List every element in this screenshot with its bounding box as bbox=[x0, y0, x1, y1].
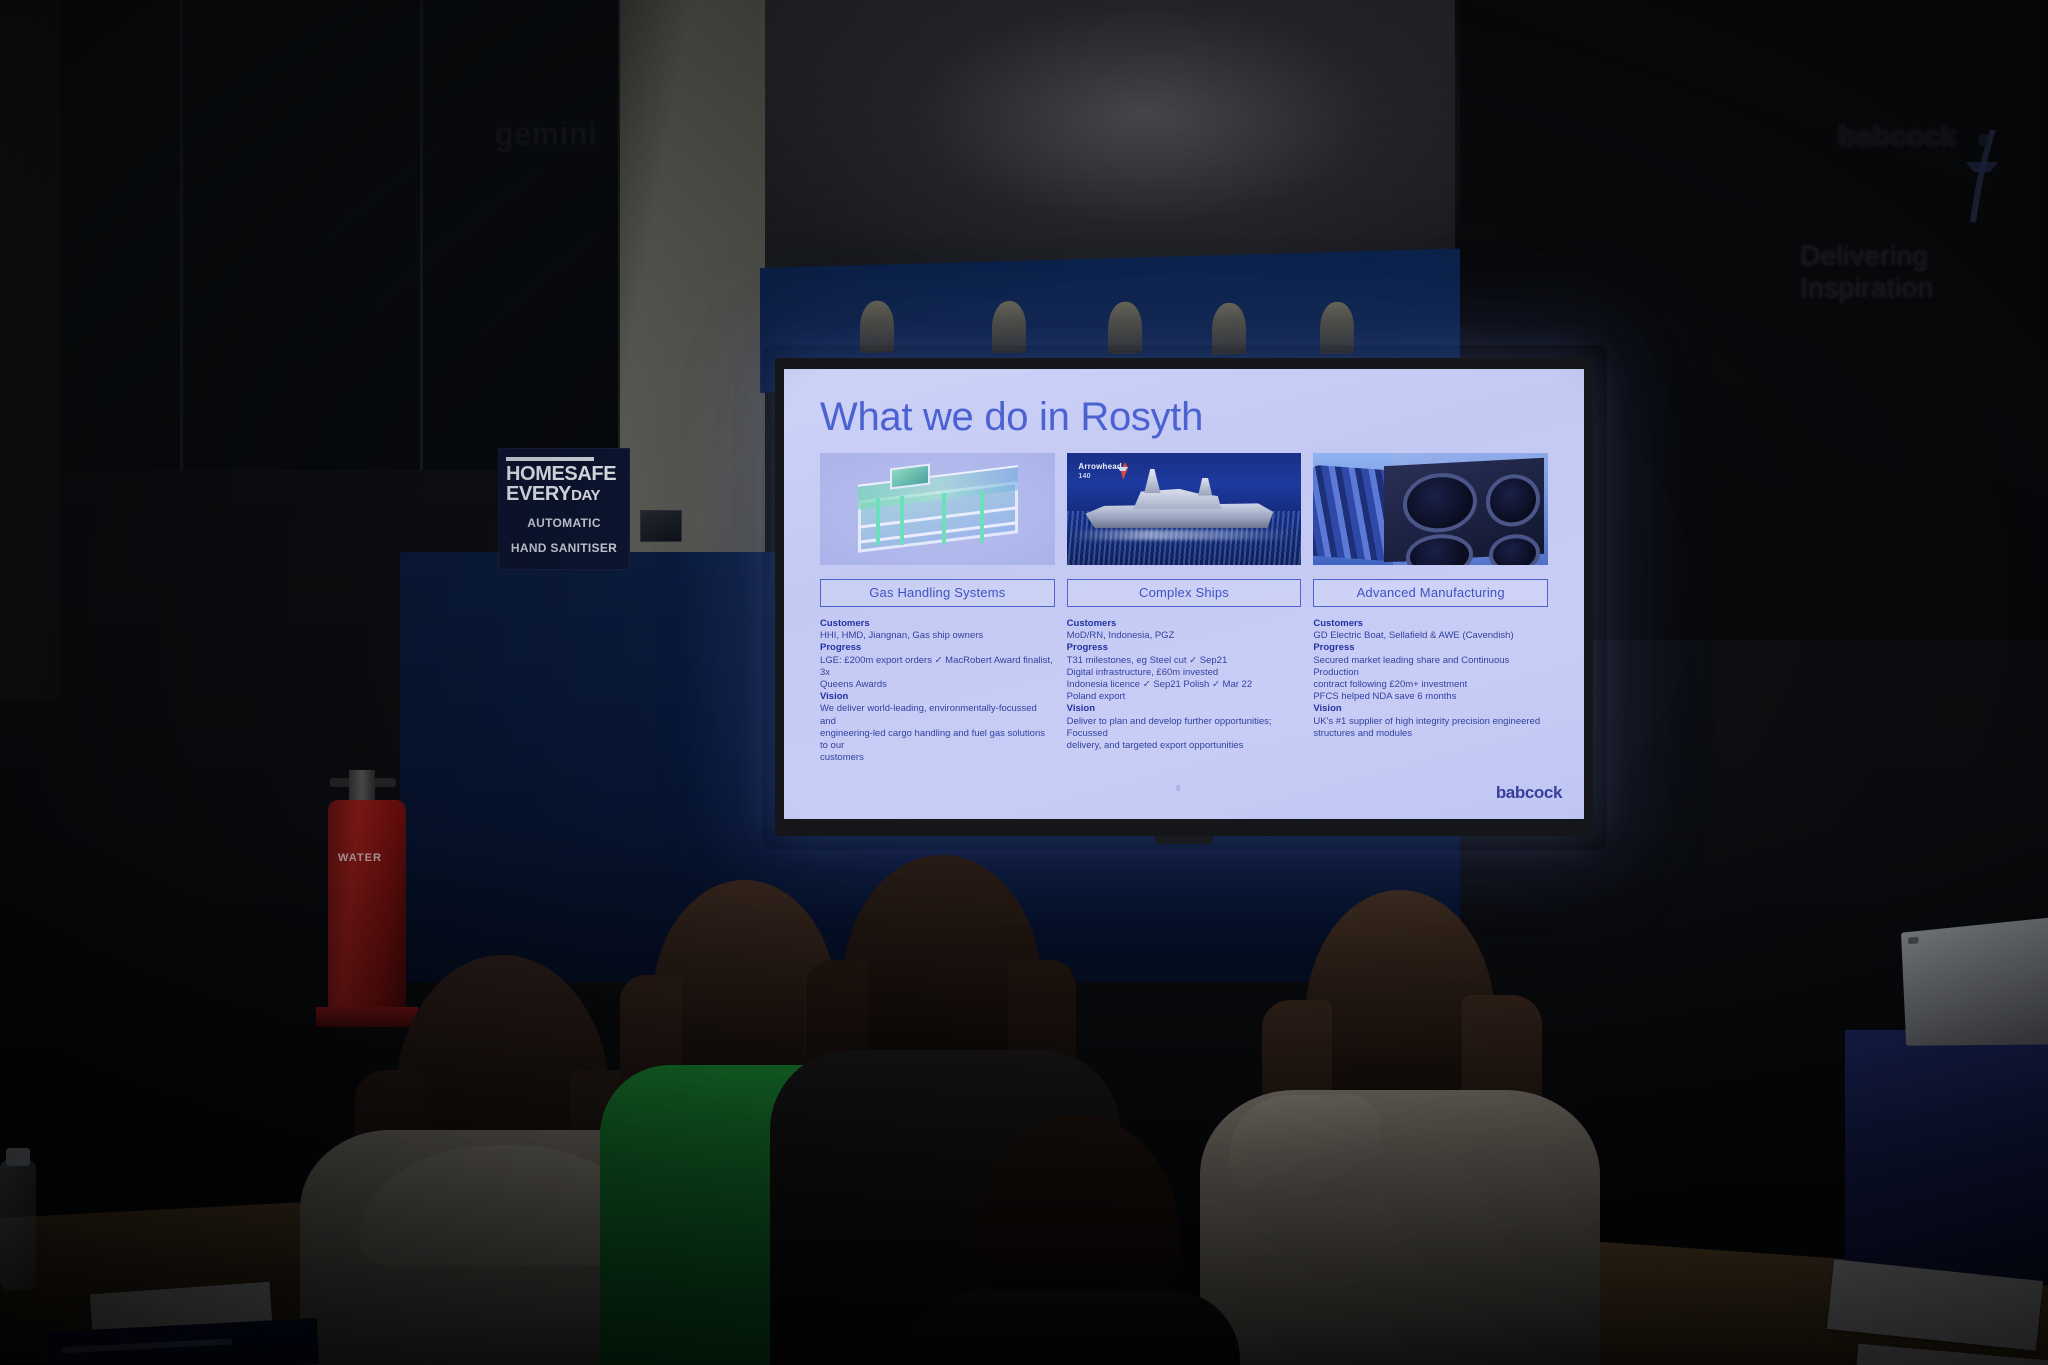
body-line: UK's #1 supplier of high integrity preci… bbox=[1313, 716, 1548, 728]
slide-babcock-logo: babcock bbox=[1496, 783, 1562, 803]
body-line: Queens Awards bbox=[820, 679, 1055, 691]
person-beige-coat-right bbox=[1200, 890, 1600, 1365]
body-line: Secured market leading share and Continu… bbox=[1313, 655, 1548, 679]
caption-complex-ships: Complex Ships bbox=[1067, 579, 1302, 607]
body-line: Digital infrastructure, £60m invested bbox=[1067, 667, 1302, 679]
body-line: HHI, HMD, Jiangnan, Gas ship owners bbox=[820, 630, 1055, 642]
caption-gas-handling-systems: Gas Handling Systems bbox=[820, 579, 1055, 607]
body-line: Indonesia licence ✓ Sep21 Polish ✓ Mar 2… bbox=[1067, 679, 1302, 691]
sign-line1-home: HOME bbox=[506, 463, 564, 485]
scene-root: gemini babcock Delivering Inspiration HO… bbox=[0, 0, 2048, 1365]
presentation-display[interactable]: What we do in Rosyth bbox=[775, 358, 1593, 836]
slide: What we do in Rosyth bbox=[784, 369, 1584, 819]
side-table-draped bbox=[1845, 1030, 2048, 1285]
heading-progress: Progress bbox=[1313, 642, 1548, 654]
body-line: Poland export bbox=[1067, 691, 1302, 703]
arrowhead-140-frigate-photo-icon: Arrowhead 140 bbox=[1067, 453, 1302, 565]
body-line: Deliver to plan and develop further oppo… bbox=[1067, 716, 1302, 740]
display-mount bbox=[1155, 836, 1213, 844]
person-dark-head-front bbox=[920, 1115, 1220, 1365]
heading-vision: Vision bbox=[1313, 703, 1548, 715]
heading-customers: Customers bbox=[1313, 618, 1548, 630]
sign-subtitle-1: AUTOMATIC bbox=[506, 516, 622, 531]
sign-line2-day: DAY bbox=[571, 487, 600, 504]
text-column-advanced-manufacturing: Customers GD Electric Boat, Sellafield &… bbox=[1313, 618, 1548, 764]
sign-line1-safe: SAFE bbox=[564, 463, 616, 485]
banner-tagline: Delivering Inspiration bbox=[1800, 240, 1934, 304]
safety-sign: HOMESAFE EVERYDAY AUTOMATIC HAND SANITIS… bbox=[498, 448, 630, 570]
body-line: MoD/RN, Indonesia, PGZ bbox=[1067, 630, 1302, 642]
arrowhead-mark-icon bbox=[1116, 462, 1130, 480]
display-panel: What we do in Rosyth bbox=[784, 369, 1584, 819]
slide-image-row: Arrowhead 140 bbox=[820, 453, 1548, 565]
body-line: engineering-led cargo handling and fuel … bbox=[820, 728, 1055, 752]
concrete-pillar bbox=[620, 0, 765, 560]
glass-logo-text: gemini bbox=[495, 116, 598, 153]
slide-text-row: Customers HHI, HMD, Jiangnan, Gas ship o… bbox=[820, 618, 1548, 764]
leaflet-title-strip bbox=[62, 1338, 232, 1353]
caption-advanced-manufacturing: Advanced Manufacturing bbox=[1313, 579, 1548, 607]
extinguisher-label: WATER bbox=[338, 852, 382, 864]
slide-caption-row: Gas Handling Systems Complex Ships Advan… bbox=[820, 579, 1548, 607]
wall-edge-left bbox=[0, 0, 60, 700]
small-desk-sign bbox=[640, 510, 682, 542]
water-bottle[interactable] bbox=[0, 1160, 36, 1290]
body-line: GD Electric Boat, Sellafield & AWE (Cave… bbox=[1313, 630, 1548, 642]
body-line: customers bbox=[820, 752, 1055, 764]
body-line: We deliver world-leading, environmentall… bbox=[820, 703, 1055, 727]
laptop-camera-icon bbox=[1908, 937, 1919, 945]
coat-collar bbox=[1230, 1095, 1380, 1200]
text-column-complex-ships: Customers MoD/RN, Indonesia, PGZ Progres… bbox=[1067, 618, 1302, 764]
slide-image-complex-ships: Arrowhead 140 bbox=[1067, 453, 1302, 565]
slide-page-number: 8 bbox=[1176, 784, 1180, 793]
arrowhead-badge-number: 140 bbox=[1078, 473, 1090, 480]
gas-handling-module-cad-render-icon bbox=[820, 453, 1055, 565]
slide-image-gas-handling bbox=[820, 453, 1055, 565]
text-column-gas-handling: Customers HHI, HMD, Jiangnan, Gas ship o… bbox=[820, 618, 1055, 764]
slide-image-advanced-manufacturing bbox=[1313, 453, 1548, 565]
heading-progress: Progress bbox=[1067, 642, 1302, 654]
sign-line2-every: EVERY bbox=[506, 483, 571, 505]
glass-partition: gemini bbox=[0, 0, 620, 470]
body-line: PFCS helped NDA save 6 months bbox=[1313, 691, 1548, 703]
body-line: LGE: £200m export orders ✓ MacRobert Awa… bbox=[820, 655, 1055, 679]
body-line: contract following £20m+ investment bbox=[1313, 679, 1548, 691]
heading-customers: Customers bbox=[820, 618, 1055, 630]
body-line: T31 milestones, eg Steel cut ✓ Sep21 bbox=[1067, 655, 1302, 667]
body-line: delivery, and targeted export opportunit… bbox=[1067, 740, 1302, 752]
heading-customers: Customers bbox=[1067, 618, 1302, 630]
babcock-swoosh-icon bbox=[1960, 128, 2002, 224]
body-line: structures and modules bbox=[1313, 728, 1548, 740]
slide-title: What we do in Rosyth bbox=[820, 395, 1562, 439]
heading-vision: Vision bbox=[1067, 703, 1302, 715]
heading-progress: Progress bbox=[820, 642, 1055, 654]
heading-vision: Vision bbox=[820, 691, 1055, 703]
sign-subtitle-2: HAND SANITISER bbox=[506, 541, 622, 556]
torso-dark bbox=[910, 1290, 1240, 1365]
cylindrical-pressure-modules-photo-icon bbox=[1313, 453, 1548, 565]
babcock-wall-logo: babcock bbox=[1838, 120, 1956, 154]
laptop[interactable] bbox=[1901, 917, 2048, 1046]
